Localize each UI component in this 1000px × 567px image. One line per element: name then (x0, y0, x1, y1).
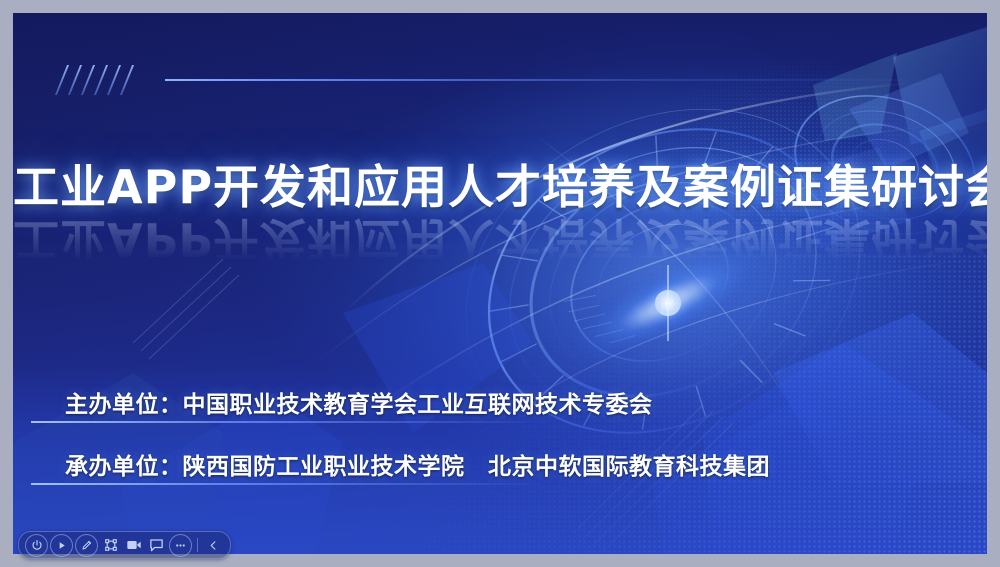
annotation-toolbar[interactable] (18, 531, 231, 559)
play-icon (56, 540, 67, 551)
comment-button[interactable] (146, 535, 167, 556)
organizer-underline (31, 483, 551, 485)
chevron-left-icon (208, 540, 219, 551)
organizer-line-host: 主办单位：中国职业技术教育学会工业互联网技术专委会 (13, 381, 987, 443)
collapse-toolbar-button[interactable] (203, 535, 224, 556)
crop-icon (104, 538, 118, 552)
camera-button[interactable] (123, 535, 144, 556)
slide-title-block: 工业APP开发和应用人才培养及案例证集研讨会 工业APP开发和应用人才培养及案例… (13, 163, 987, 264)
more-button[interactable] (169, 534, 192, 557)
host-organization-label: 主办单位：中国职业技术教育学会工业互联网技术专委会 (65, 385, 653, 419)
header-rule-line (165, 79, 955, 81)
power-icon (31, 539, 43, 551)
lens-flare-graphic (552, 222, 785, 385)
speech-bubble-icon (149, 538, 164, 552)
record-toggle-button[interactable] (25, 534, 48, 557)
polygon-shapes (791, 27, 987, 249)
slash-decoration (61, 65, 181, 99)
toolbar-divider (197, 538, 198, 552)
pencil-icon (81, 539, 93, 551)
organizer-block: 主办单位：中国职业技术教育学会工业互联网技术专委会 承办单位：陕西国防工业职业技… (13, 381, 987, 505)
video-camera-icon (126, 538, 142, 552)
screenshot-button[interactable] (100, 535, 121, 556)
pen-button[interactable] (75, 534, 98, 557)
play-button[interactable] (50, 534, 73, 557)
slide-title: 工业APP开发和应用人才培养及案例证集研讨会 (13, 163, 987, 211)
halftone-texture-upper (627, 53, 957, 283)
organizer-line-coorganizer: 承办单位：陕西国防工业职业技术学院 北京中软国际教育科技集团 (13, 443, 987, 505)
slide-title-reflection: 工业APP开发和应用人才培养及案例证集研讨会 (13, 215, 987, 263)
coorganizer-organization-label: 承办单位：陕西国防工业职业技术学院 北京中软国际教育科技集团 (65, 447, 770, 481)
slide-canvas: 工业APP开发和应用人才培养及案例证集研讨会 工业APP开发和应用人才培养及案例… (13, 13, 987, 554)
organizer-underline (31, 421, 551, 423)
ellipsis-icon (174, 539, 187, 552)
presentation-viewer: 工业APP开发和应用人才培养及案例证集研讨会 工业APP开发和应用人才培养及案例… (0, 0, 1000, 567)
